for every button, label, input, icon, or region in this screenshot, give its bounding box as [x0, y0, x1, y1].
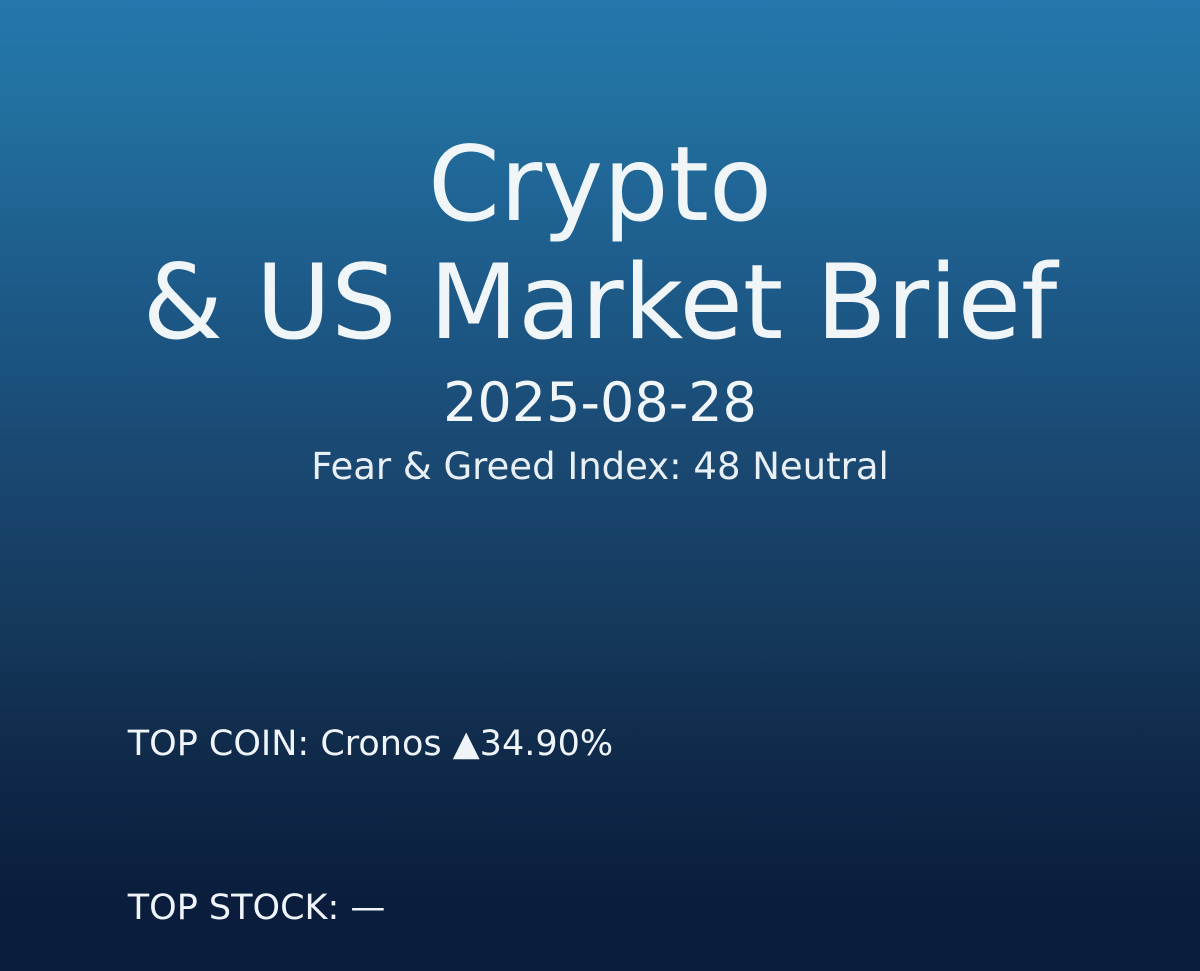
page-title-line-2: & US Market Brief [0, 244, 1200, 362]
market-brief-slide: Crypto & US Market Brief 2025-08-28 Fear… [0, 0, 1200, 900]
page-title: Crypto & US Market Brief [0, 0, 1200, 362]
top-coin-row: TOP COIN: Cronos ▲34.90% [61, 681, 1141, 807]
market-highlights: TOP COIN: Cronos ▲34.90% TOP STOCK: — [61, 681, 1141, 971]
page-title-line-1: Crypto [0, 0, 1200, 244]
top-stock-row: TOP STOCK: — [61, 845, 1141, 971]
slide-header: Crypto & US Market Brief 2025-08-28 Fear… [0, 0, 1200, 488]
report-date: 2025-08-28 [0, 362, 1200, 432]
top-stock-text: TOP STOCK: — [128, 888, 386, 928]
fear-greed-index: Fear & Greed Index: 48 Neutral [0, 432, 1200, 488]
top-coin-text: TOP COIN: Cronos ▲34.90% [128, 724, 613, 764]
